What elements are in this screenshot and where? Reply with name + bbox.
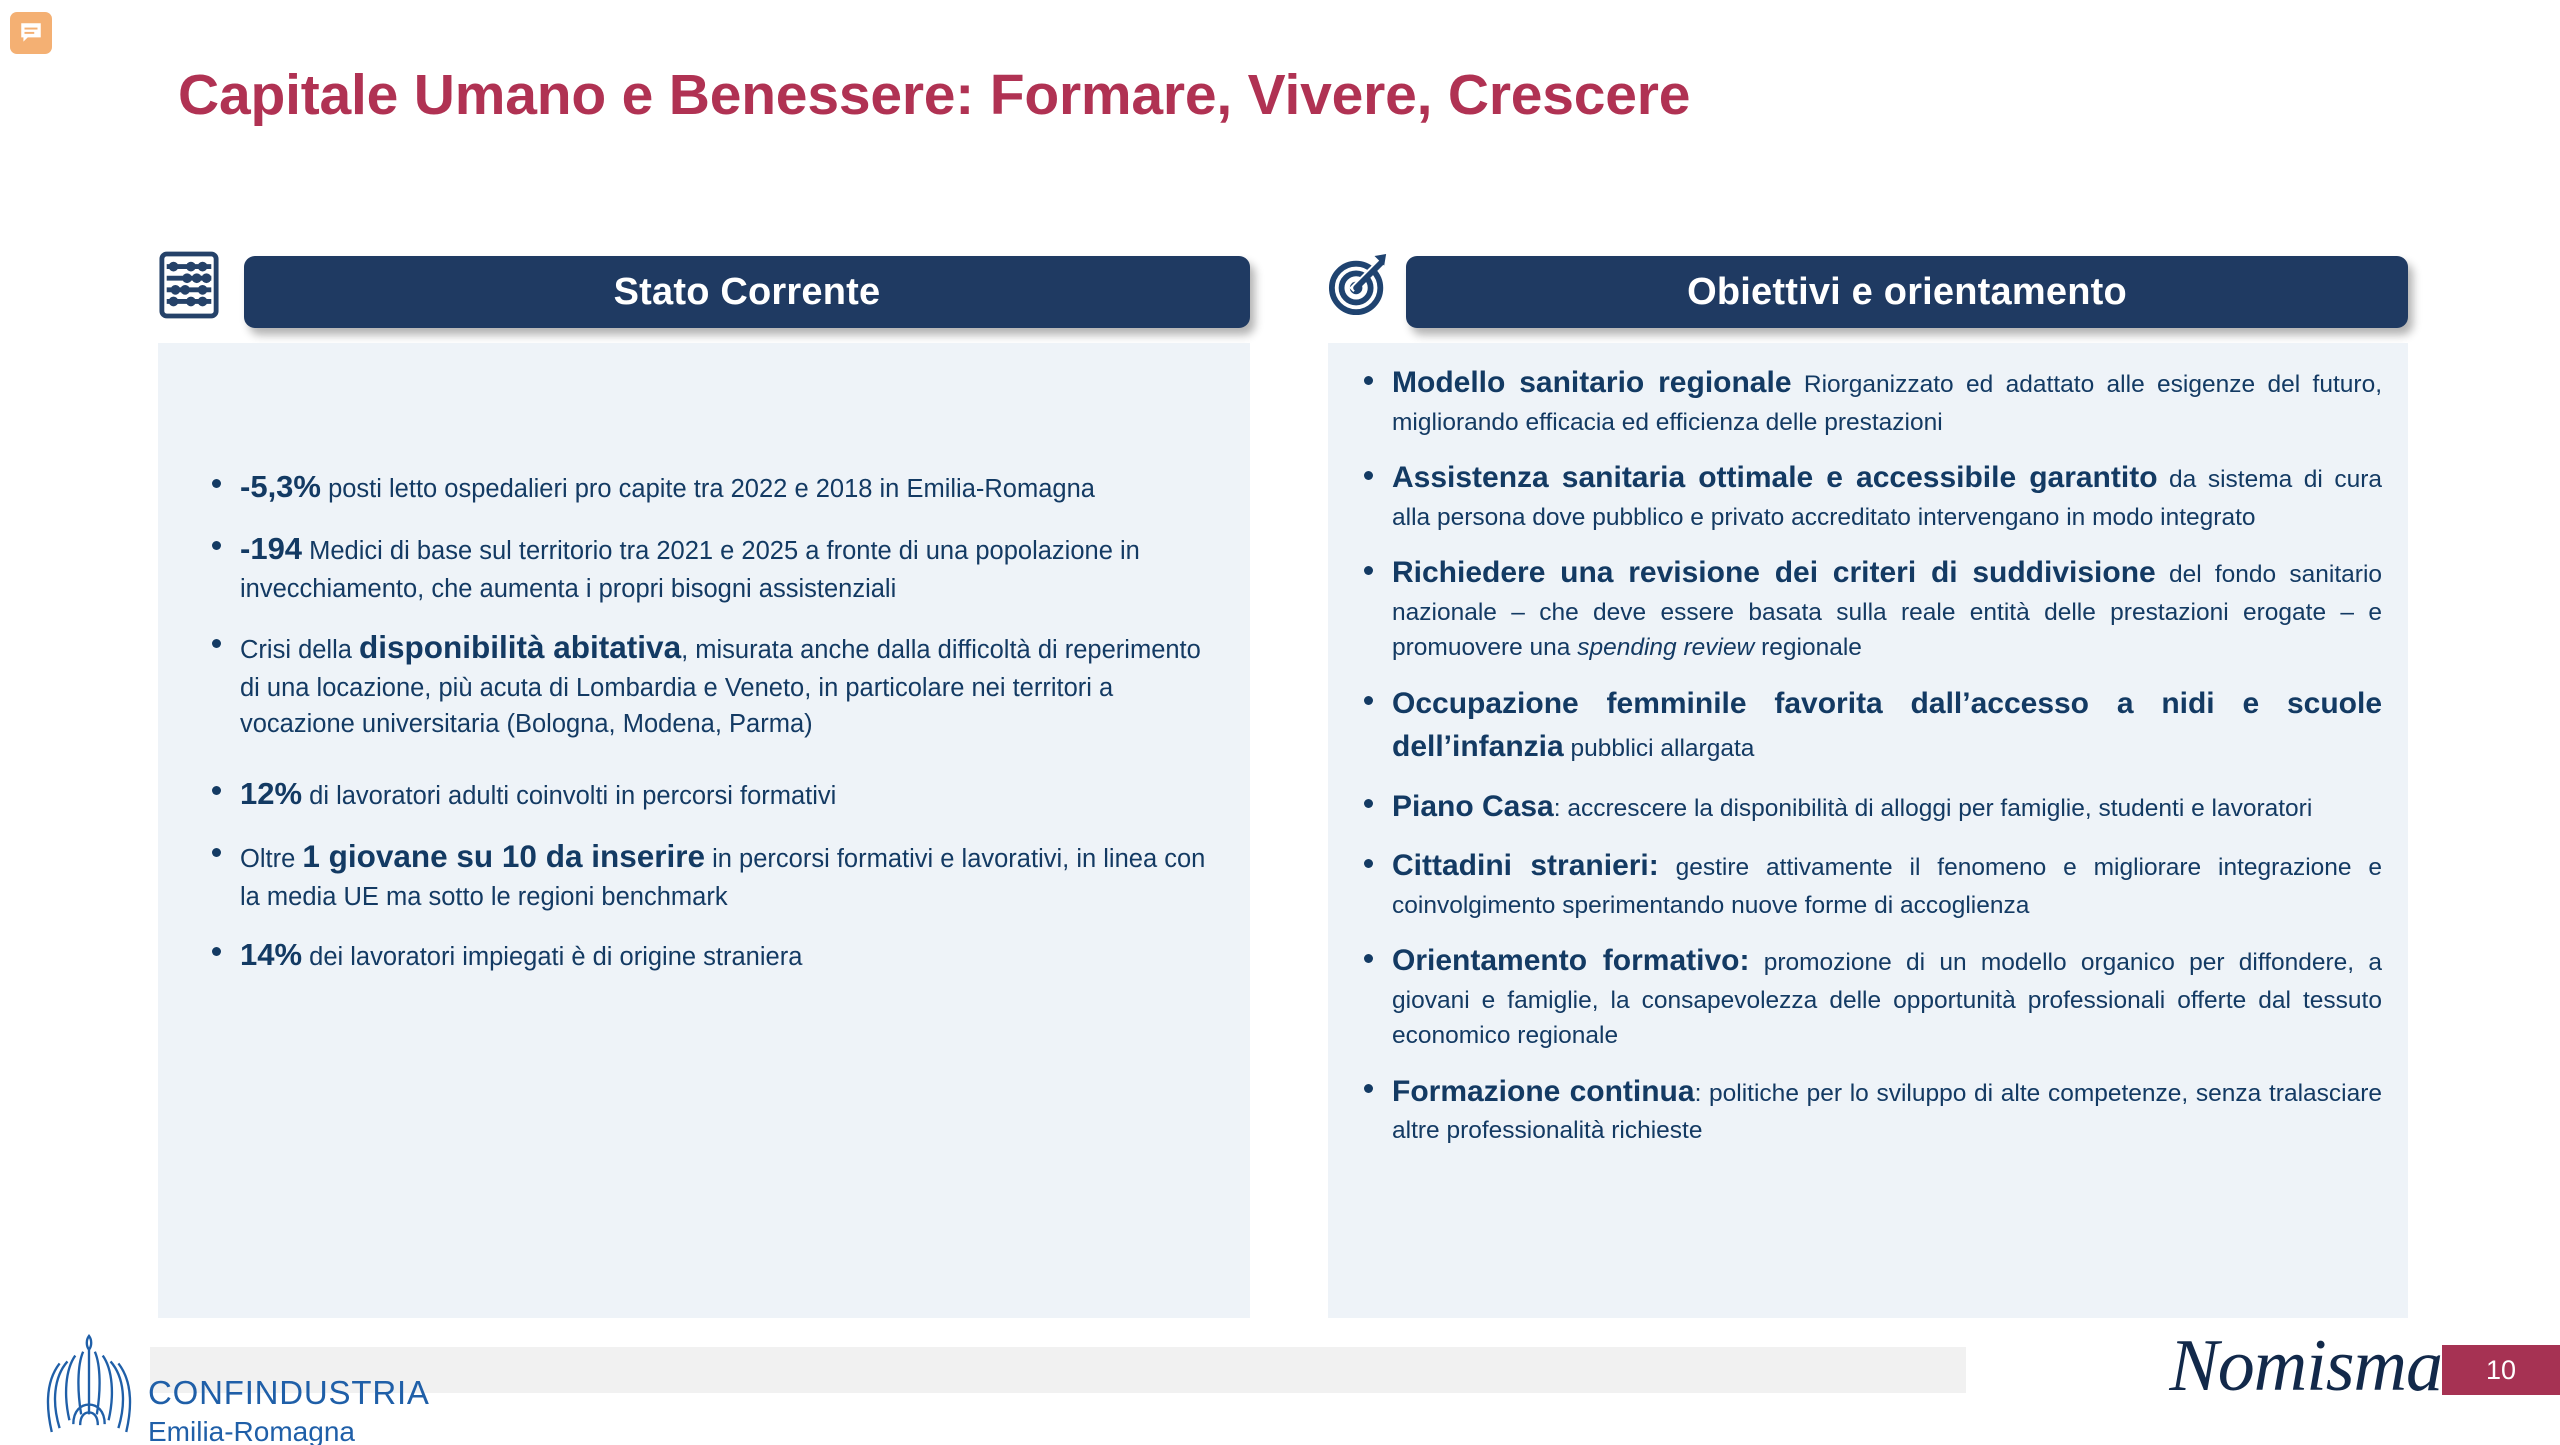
column-header-right: Obiettivi e orientamento [1328,248,2408,336]
panel-right: Modello sanitario regionale Riorganizzat… [1328,343,2408,1318]
panel-left: -5,3% posti letto ospedalieri pro capite… [158,343,1250,1318]
list-item: Oltre 1 giovane su 10 da inserire in per… [202,834,1220,915]
target-icon [1328,250,1390,320]
comment-bubble-glyph [18,20,44,46]
page-number-badge: 10 [2442,1345,2560,1395]
confindustria-region: Emilia-Romagna [148,1416,430,1445]
bullet-list-right: Modello sanitario regionale Riorganizzat… [1328,343,2408,1149]
list-item: -194 Medici di base sul territorio tra 2… [202,527,1220,607]
slide: Capitale Umano e Benessere: Formare, Viv… [0,0,2560,1445]
list-item-text: di lavoratori adulti coinvolti in percor… [302,782,836,810]
abacus-icon [158,250,220,320]
list-item: Piano Casa: accrescere la disponibilità … [1354,785,2382,829]
list-item: Assistenza sanitaria ottimale e accessib… [1354,456,2382,535]
page-number: 10 [2486,1355,2516,1386]
column-header-left: Stato Corrente [158,248,1250,336]
list-item-text: -194 [240,531,302,566]
confindustria-eagle-icon [40,1330,138,1438]
list-item: Formazione continua: politiche per lo sv… [1354,1070,2382,1149]
list-item-text: pubblici allargata [1564,735,1755,762]
list-item-text: 1 giovane su 10 da inserire [302,838,705,874]
column-stato-corrente: Stato Corrente -5,3% posti letto ospedal… [158,248,1250,336]
list-item-text: Richiedere una revisione dei criteri di … [1392,556,2156,589]
list-item-text: Formazione continua [1392,1075,1695,1108]
list-item-text: 12% [240,776,302,811]
column-header-label-left: Stato Corrente [614,271,881,314]
list-item-text: : accrescere la disponibilità di alloggi… [1554,795,2313,822]
list-item-text: 14% [240,937,302,972]
list-item-text: -5,3% [240,469,321,504]
list-item-text: Oltre [240,845,302,873]
confindustria-wordmark: CONFINDUSTRIA Emilia-Romagna [148,1330,430,1445]
list-item-text: posti letto ospedalieri pro capite tra 2… [321,475,1095,503]
list-item-text: Cittadini stranieri: [1392,849,1659,882]
list-item-text: regionale [1754,634,1862,661]
bullet-list-left: -5,3% posti letto ospedalieri pro capite… [158,465,1250,977]
list-item: 12% di lavoratori adulti coinvolti in pe… [202,772,1220,816]
list-item-text: dei lavoratori impiegati è di origine st… [302,943,802,971]
list-item-text: Orientamento formativo: [1392,944,1749,977]
list-item-text: Crisi della [240,636,359,664]
list-item: Cittadini stranieri: gestire attivamente… [1354,844,2382,923]
column-obiettivi: Obiettivi e orientamento Modello sanitar… [1328,248,2408,336]
nomisma-logo: Nomisma [2169,1329,2442,1403]
list-item: -5,3% posti letto ospedalieri pro capite… [202,465,1220,509]
list-item: Orientamento formativo: promozione di un… [1354,939,2382,1054]
comment-icon[interactable] [10,12,52,54]
list-item-text: spending review [1577,634,1754,661]
list-item-text: disponibilità abitativa [359,629,681,665]
list-item-text: Piano Casa [1392,790,1554,823]
confindustria-logo: CONFINDUSTRIA Emilia-Romagna [40,1330,430,1445]
list-item: Modello sanitario regionale Riorganizzat… [1354,361,2382,440]
list-item-text: Modello sanitario regionale [1392,366,1792,399]
list-item: 14% dei lavoratori impiegati è di origin… [202,933,1220,977]
page-title: Capitale Umano e Benessere: Formare, Viv… [178,62,1690,128]
list-item: Crisi della disponibilità abitativa, mis… [202,625,1220,742]
column-header-bar-left: Stato Corrente [244,256,1250,328]
list-item-text: Medici di base sul territorio tra 2021 e… [240,537,1140,603]
list-item-text: Occupazione femminile favorita dall’acce… [1392,687,2382,764]
list-item-text: Assistenza sanitaria ottimale e accessib… [1392,461,2158,494]
column-header-bar-right: Obiettivi e orientamento [1406,256,2408,328]
list-item: Richiedere una revisione dei criteri di … [1354,551,2382,666]
column-header-label-right: Obiettivi e orientamento [1687,271,2127,314]
confindustria-name: CONFINDUSTRIA [148,1374,430,1412]
list-item: Occupazione femminile favorita dall’acce… [1354,682,2382,769]
